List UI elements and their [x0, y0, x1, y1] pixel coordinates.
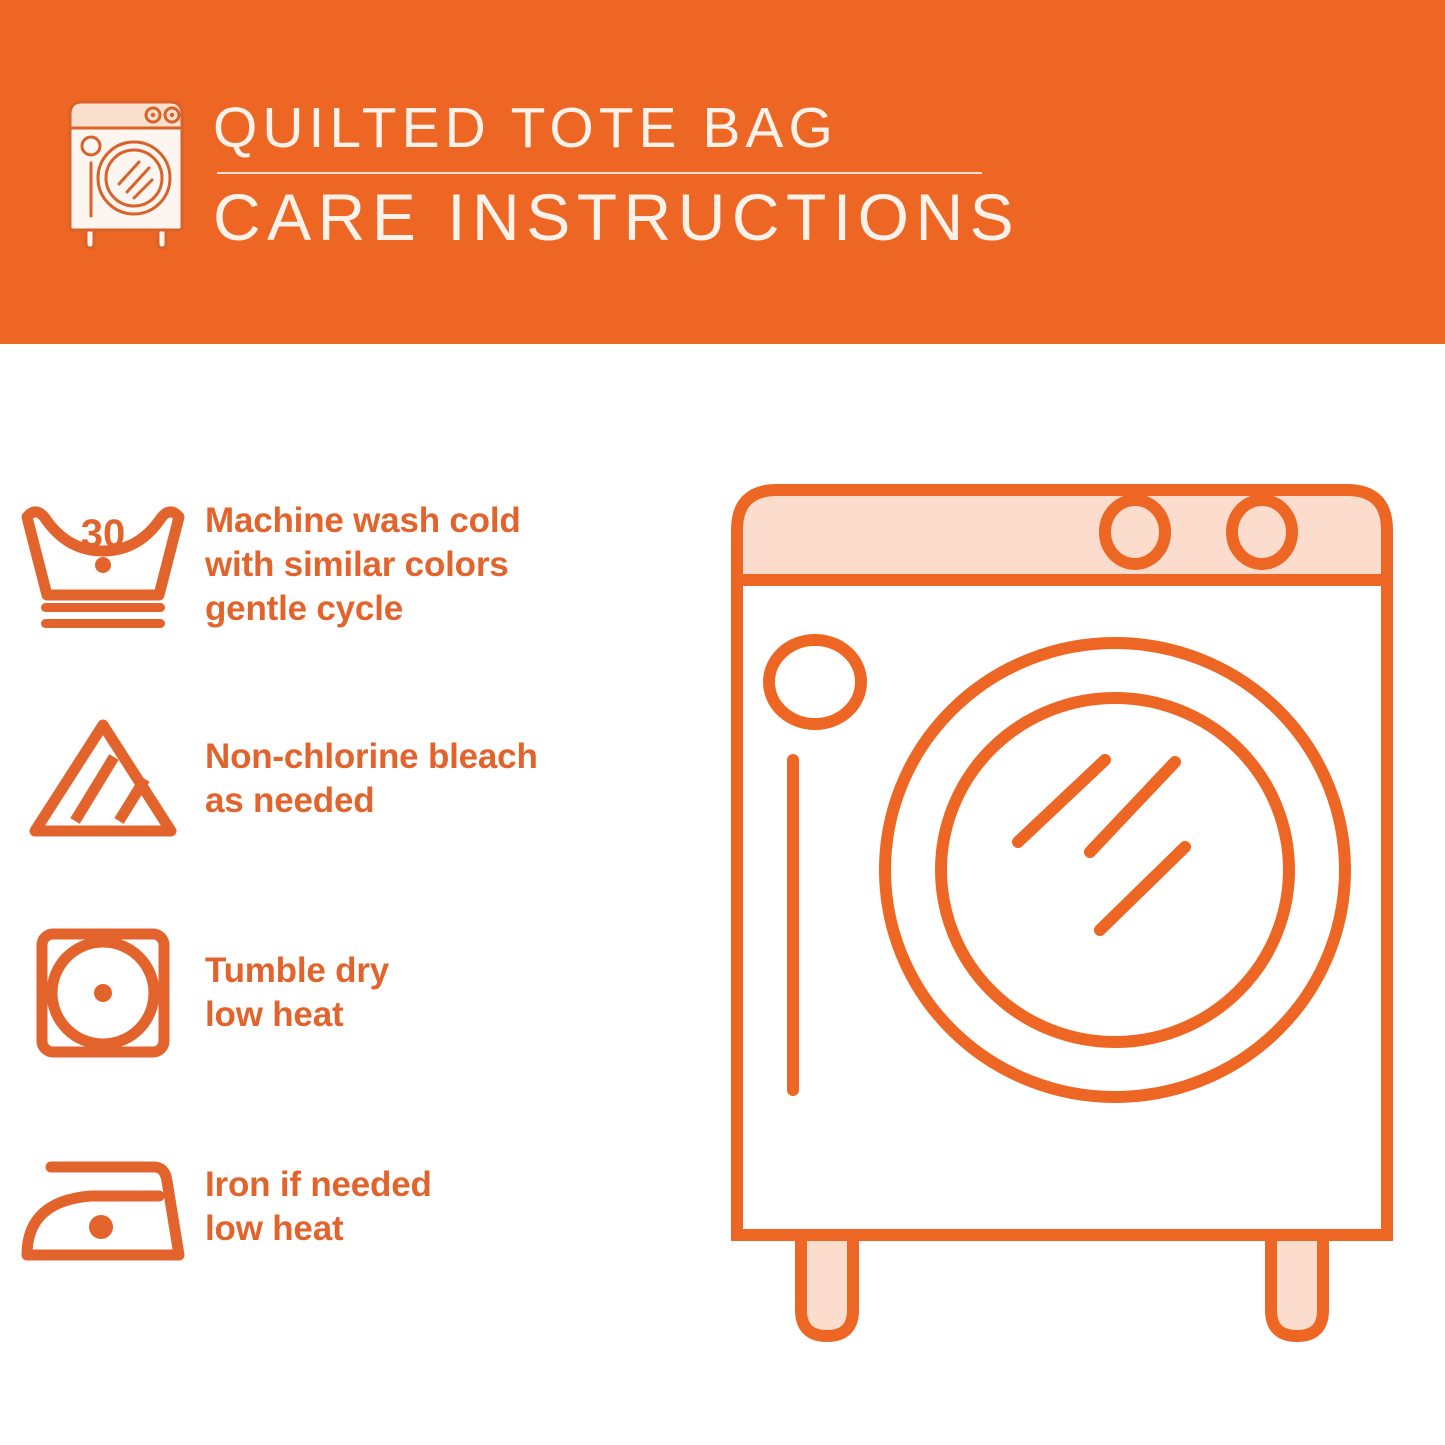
care-row-wash: 30 Machine wash cold with similar colors… [0, 470, 690, 660]
care-text-line: low heat [205, 1207, 432, 1251]
care-text-line: Tumble dry [205, 949, 389, 993]
washing-machine-illustration [705, 470, 1420, 1390]
care-row-tumble-dry: Tumble dry low heat [0, 898, 690, 1088]
care-text-line: low heat [205, 993, 389, 1037]
care-text-line: gentle cycle [205, 587, 521, 631]
care-text-line: Machine wash cold [205, 499, 521, 543]
care-text-wash: Machine wash cold with similar colors ge… [205, 499, 521, 631]
leg-left [801, 1235, 853, 1336]
care-text-tumble-dry: Tumble dry low heat [205, 949, 389, 1037]
leg-right [1271, 1235, 1323, 1336]
knob-right[interactable] [1232, 500, 1292, 564]
care-text-line: with similar colors [205, 543, 521, 587]
header-title-group: QUILTED TOTE BAG CARE INSTRUCTIONS [213, 100, 1003, 250]
tumble-dry-low-icon [0, 908, 205, 1078]
header-banner: QUILTED TOTE BAG CARE INSTRUCTIONS [0, 0, 1445, 344]
iron-low-heat-icon [0, 1122, 205, 1292]
care-instructions-poster: QUILTED TOTE BAG CARE INSTRUCTIONS 30 [0, 0, 1445, 1445]
care-text-line: Non-chlorine bleach [205, 735, 538, 779]
care-row-iron: Iron if needed low heat [0, 1112, 690, 1302]
wash-temperature-label: 30 [80, 512, 125, 556]
care-row-bleach: Non-chlorine bleach as needed [0, 684, 690, 874]
non-chlorine-bleach-triangle-icon [0, 694, 205, 864]
care-text-line: Iron if needed [205, 1163, 432, 1207]
knob-left[interactable] [1105, 500, 1165, 564]
care-text-line: as needed [205, 779, 538, 823]
title-divider [217, 172, 982, 174]
care-instruction-list: 30 Machine wash cold with similar colors… [0, 470, 690, 1326]
page-subtitle: CARE INSTRUCTIONS [213, 184, 1003, 250]
washing-machine-icon [64, 98, 188, 250]
care-text-bleach: Non-chlorine bleach as needed [205, 735, 538, 823]
wash-tub-30-gentle-icon: 30 [0, 480, 205, 650]
care-text-iron: Iron if needed low heat [205, 1163, 432, 1251]
page-title: QUILTED TOTE BAG [213, 100, 1003, 157]
